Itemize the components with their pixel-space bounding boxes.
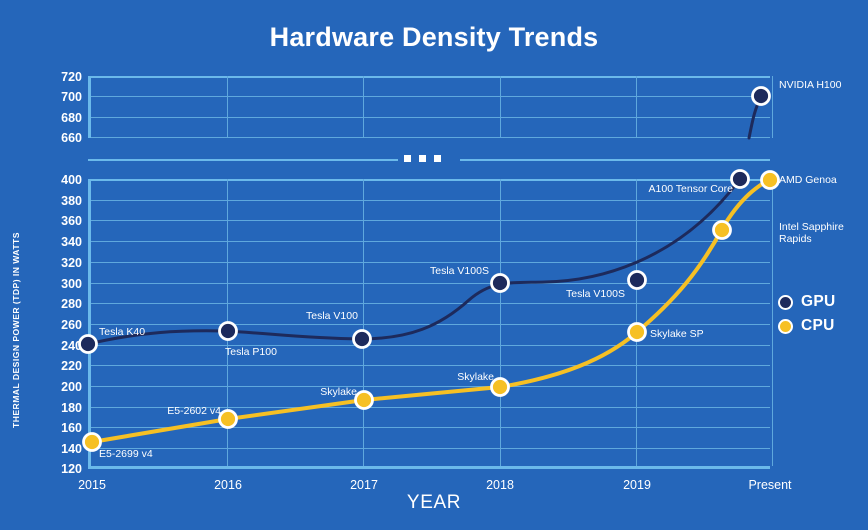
axis-break-dot (419, 155, 426, 162)
xtick-2016: 2016 (214, 478, 242, 492)
ytick-280: 280 (36, 297, 82, 311)
ytick-360: 360 (36, 214, 82, 228)
xtick-present: Present (748, 478, 791, 492)
y-axis-title: THERMAL DESIGN POWER (TDP) IN WATTS (8, 190, 24, 470)
ytick-680: 680 (36, 111, 82, 125)
ytick-340: 340 (36, 235, 82, 249)
label-e5-2602-v4: E5-2602 v4 (167, 405, 221, 417)
x-axis-title: YEAR (0, 492, 868, 514)
axis-break-line-left (88, 159, 398, 161)
ytick-160: 160 (36, 421, 82, 435)
gridline-300 (91, 283, 770, 284)
ytick-300: 300 (36, 277, 82, 291)
gridline-720 (91, 76, 770, 78)
label-nvidia-h100: NVIDIA H100 (779, 79, 841, 91)
gridline-140 (91, 448, 770, 449)
gridline-220 (91, 365, 770, 366)
label-tesla-v100s-a: Tesla V100S (430, 265, 489, 277)
label-tesla-p100: Tesla P100 (225, 346, 277, 358)
gridline-2018 (500, 179, 501, 466)
ytick-240: 240 (36, 339, 82, 353)
label-e5-2699-v4: E5-2699 v4 (99, 448, 153, 460)
gridline-2019 (636, 76, 637, 138)
gridline-260 (91, 324, 770, 325)
axis-break-line-right (460, 159, 770, 161)
gridline-400 (91, 179, 770, 181)
legend-label-gpu: GPU (801, 293, 836, 311)
label-tesla-k40: Tesla K40 (99, 326, 145, 338)
ytick-720: 720 (36, 70, 82, 84)
axis-break-dot (434, 155, 441, 162)
ytick-400: 400 (36, 173, 82, 187)
gridline-160 (91, 427, 770, 428)
label-a100-tensor-core: A100 Tensor Core (649, 183, 733, 195)
gridline-340 (91, 241, 770, 242)
legend-swatch-cpu-icon (778, 319, 793, 334)
chart-container: Hardware Density Trends THERMAL DESIGN P… (0, 0, 868, 530)
gridline-280 (91, 303, 770, 304)
axis-break-indicator (88, 152, 770, 168)
label-skylake-sp: Skylake SP (650, 328, 704, 340)
ytick-660: 660 (36, 131, 82, 145)
ytick-200: 200 (36, 380, 82, 394)
legend: GPU CPU (778, 290, 864, 338)
y-axis-ticks: 720 700 680 660 400 380 360 340 320 300 … (30, 0, 82, 530)
legend-item-cpu[interactable]: CPU (778, 314, 864, 338)
gridline-2019 (636, 179, 637, 466)
gridline-360 (91, 220, 770, 221)
ytick-180: 180 (36, 401, 82, 415)
gridline-200 (91, 386, 770, 387)
ytick-220: 220 (36, 359, 82, 373)
xtick-2017: 2017 (350, 478, 378, 492)
ytick-260: 260 (36, 318, 82, 332)
xtick-2018: 2018 (486, 478, 514, 492)
gridline-2017 (363, 179, 364, 466)
gridline-present (772, 76, 773, 138)
gridline-660 (91, 137, 770, 138)
xtick-2015: 2015 (78, 478, 106, 492)
plot-panel-lower (88, 179, 770, 469)
gridline-2018 (500, 76, 501, 138)
ytick-380: 380 (36, 194, 82, 208)
legend-label-cpu: CPU (801, 317, 835, 335)
ytick-140: 140 (36, 442, 82, 456)
gridline-2017 (363, 76, 364, 138)
gridline-680 (91, 117, 770, 118)
gridline-380 (91, 200, 770, 201)
label-tesla-v100s-b: Tesla V100S (566, 288, 625, 300)
ytick-120: 120 (36, 462, 82, 476)
label-tesla-v100: Tesla V100 (306, 310, 358, 322)
xtick-2019: 2019 (623, 478, 651, 492)
ytick-700: 700 (36, 90, 82, 104)
legend-swatch-gpu-icon (778, 295, 793, 310)
legend-item-gpu[interactable]: GPU (778, 290, 864, 314)
plot-panel-upper (88, 76, 770, 138)
gridline-present (772, 179, 773, 466)
gridline-2016 (227, 76, 228, 138)
label-intel-sapphire-rapids: Intel Sapphire Rapids (779, 221, 844, 245)
axis-break-dot (404, 155, 411, 162)
gridline-240 (91, 345, 770, 346)
gridline-700 (91, 96, 770, 97)
label-amd-genoa: AMD Genoa (779, 174, 837, 186)
gridline-320 (91, 262, 770, 263)
label-skylake-b: Skylake (457, 371, 494, 383)
gridline-2016 (227, 179, 228, 466)
ytick-320: 320 (36, 256, 82, 270)
label-skylake-a: Skylake (320, 386, 357, 398)
chart-title: Hardware Density Trends (0, 22, 868, 53)
